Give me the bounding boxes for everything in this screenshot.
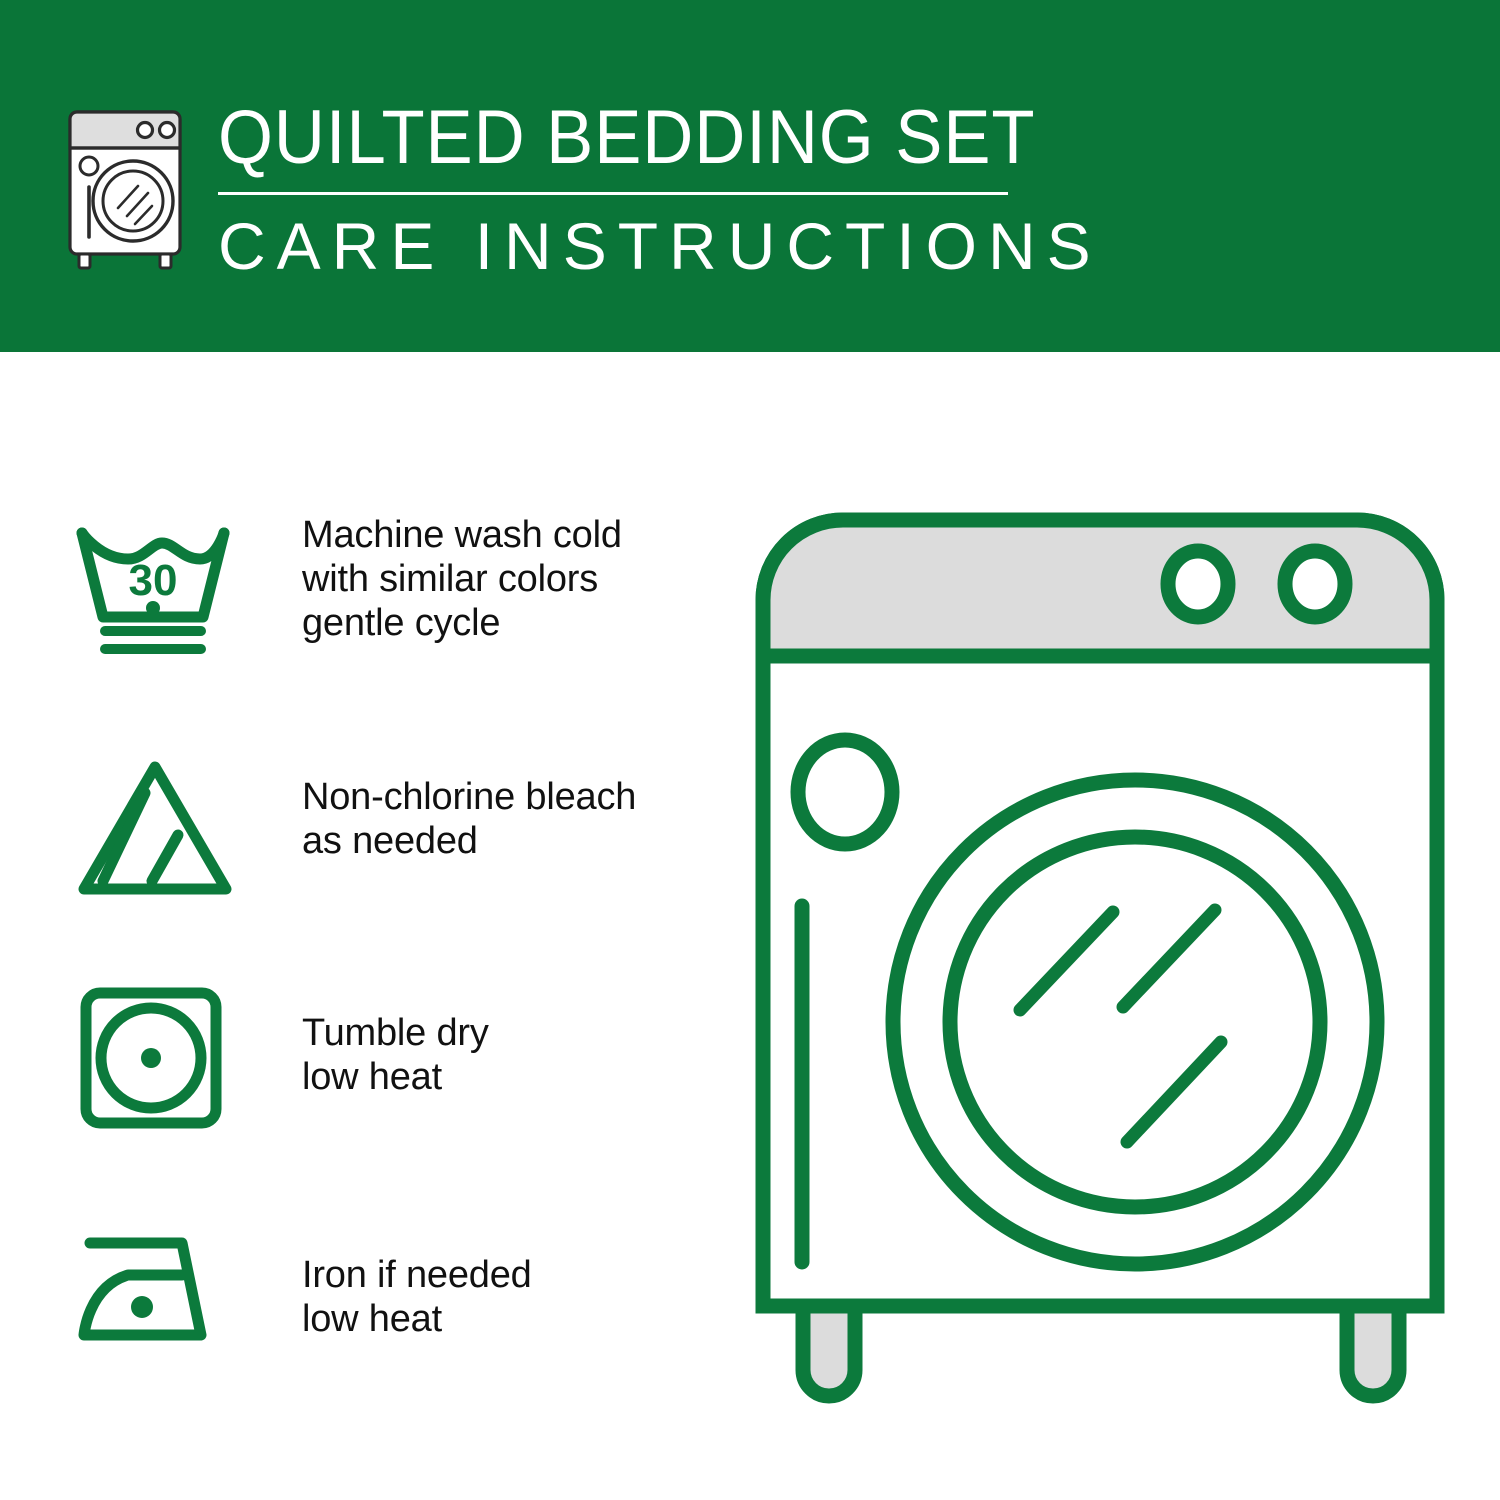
care-text-line: low heat [302, 1055, 489, 1099]
list-item: Iron if needed low heat [70, 1215, 710, 1451]
care-instruction-text: Machine wash cold with similar colors ge… [240, 507, 622, 645]
indicator-light [798, 740, 892, 844]
drum-door-inner-ring [950, 837, 1320, 1207]
care-instruction-list: 30 Machine wash cold with similar colors… [70, 507, 710, 1451]
page-subtitle: CARE INSTRUCTIONS [218, 209, 1018, 283]
foot-left [803, 1306, 855, 1396]
page-title: QUILTED BEDDING SET [218, 96, 962, 180]
control-knob-right [1285, 551, 1345, 617]
washing-machine-icon [62, 104, 202, 272]
non-chlorine-bleach-triangle-icon [70, 743, 240, 903]
care-text-line: as needed [302, 819, 636, 863]
care-text-line: low heat [302, 1297, 532, 1341]
care-text-line: Tumble dry [302, 1011, 489, 1055]
tumble-dry-low-icon [70, 979, 240, 1133]
control-knob-left [1168, 551, 1228, 617]
iron-low-heat-icon [70, 1215, 240, 1361]
list-item: 30 Machine wash cold with similar colors… [70, 507, 710, 743]
list-item: Non-chlorine bleach as needed [70, 743, 710, 979]
care-instruction-text: Iron if needed low heat [240, 1215, 532, 1341]
care-text-line: Machine wash cold [302, 513, 622, 557]
list-item: Tumble dry low heat [70, 979, 710, 1215]
care-instruction-text: Non-chlorine bleach as needed [240, 743, 636, 863]
front-load-washing-machine-illustration [745, 502, 1455, 1422]
care-text-line: Non-chlorine bleach [302, 775, 636, 819]
wash-temp-label: 30 [129, 556, 178, 605]
content-area: 30 Machine wash cold with similar colors… [0, 352, 1500, 1500]
foot-right [1347, 1306, 1399, 1396]
care-text-line: with similar colors [302, 557, 622, 601]
wash-tub-30-gentle-icon: 30 [70, 507, 240, 663]
header-banner: QUILTED BEDDING SET CARE INSTRUCTIONS [0, 0, 1500, 352]
title-divider [218, 192, 1008, 195]
care-text-line: Iron if needed [302, 1253, 532, 1297]
care-text-line: gentle cycle [302, 601, 622, 645]
header-title-group: QUILTED BEDDING SET CARE INSTRUCTIONS [218, 96, 1018, 283]
care-instruction-text: Tumble dry low heat [240, 979, 489, 1099]
